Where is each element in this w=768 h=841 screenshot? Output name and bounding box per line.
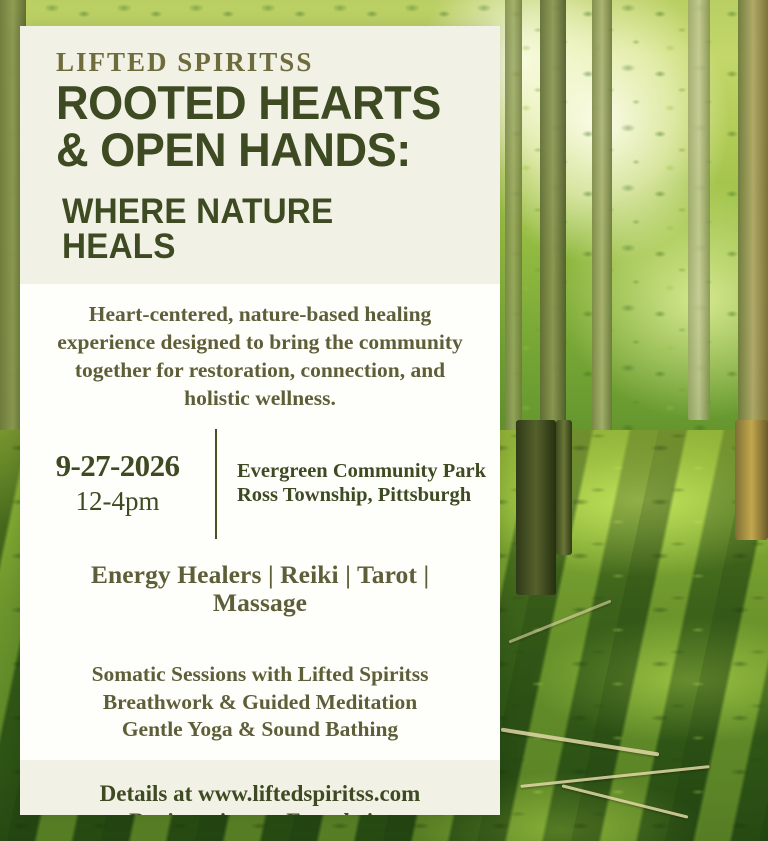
services-section: Energy Healers | Reiki | Tarot | Massage… (20, 539, 500, 760)
tree-trunk-base (516, 420, 556, 595)
event-details-bar: 9-27-2026 12-4pm Evergreen Community Par… (20, 429, 500, 539)
location-column: Evergreen Community Park Ross Township, … (217, 429, 500, 539)
page-subtitle: WHERE NATURE HEALS (62, 194, 455, 264)
page-title: ROOTED HEARTS & OPEN HANDS: (56, 80, 459, 173)
event-time: 12-4pm (76, 487, 160, 517)
offering-item: Somatic Sessions with Lifted Spiritss (44, 661, 476, 689)
title-line-2: & OPEN HANDS: (56, 127, 459, 174)
tree-trunk-base (735, 420, 768, 540)
service-offerings: Somatic Sessions with Lifted Spiritss Br… (44, 661, 476, 744)
event-date: 9-27-2026 (56, 450, 180, 483)
details-url[interactable]: Details at www.liftedspiritss.com (44, 780, 476, 808)
title-line-1: ROOTED HEARTS (56, 80, 459, 127)
event-description: Heart-centered, nature-based healing exp… (20, 284, 500, 429)
tree-trunk (688, 0, 710, 420)
tree-trunk (505, 0, 522, 460)
offering-item: Breathwork & Guided Meditation (44, 689, 476, 717)
registration-note: Registration on Eventbrite (44, 808, 476, 815)
poster-card: LIFTED SPIRITSS ROOTED HEARTS & OPEN HAN… (20, 26, 500, 815)
event-city: Ross Township, Pittsburgh (237, 483, 490, 507)
poster-header: LIFTED SPIRITSS ROOTED HEARTS & OPEN HAN… (20, 26, 500, 284)
service-modalities: Energy Healers | Reiki | Tarot | Massage (44, 561, 476, 617)
date-time-column: 9-27-2026 12-4pm (20, 429, 215, 539)
offering-item: Gentle Yoga & Sound Bathing (44, 716, 476, 744)
tree-trunk-base (556, 420, 572, 555)
brand-eyebrow: LIFTED SPIRITSS (56, 48, 476, 76)
event-venue: Evergreen Community Park (237, 459, 490, 483)
poster-footer: Details at www.liftedspiritss.com Regist… (20, 760, 500, 815)
